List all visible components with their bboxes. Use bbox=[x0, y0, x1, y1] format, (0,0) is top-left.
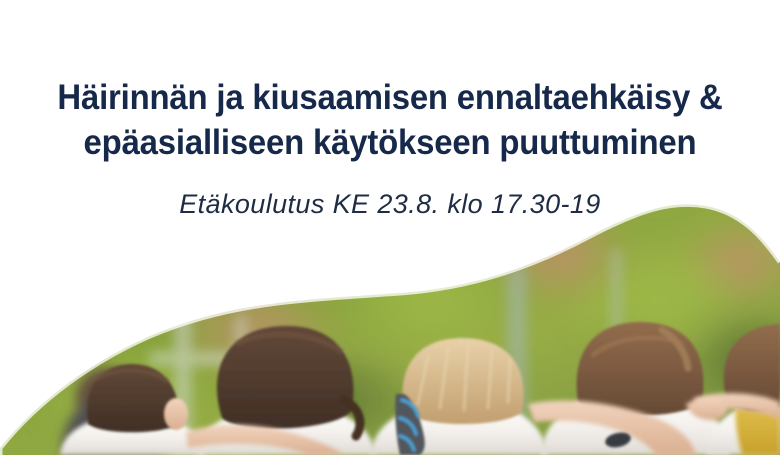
children-group-photo: Group of children in white sports shirts… bbox=[0, 0, 780, 455]
photo-band: Group of children in white sports shirts… bbox=[0, 0, 780, 455]
poster-canvas: Group of children in white sports shirts… bbox=[0, 0, 780, 455]
